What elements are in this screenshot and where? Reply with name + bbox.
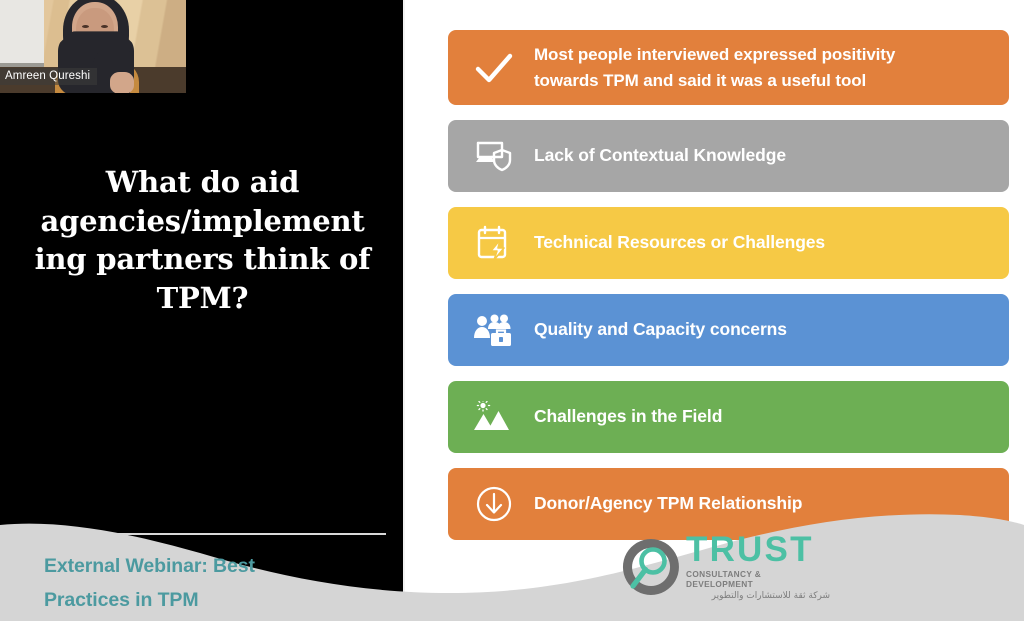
topic-bar-positivity[interactable]: Most people interviewed expressed positi… [448,30,1009,105]
footer-title: External Webinar: Best Practices in TPM [44,549,374,617]
webcam-thumbnail[interactable]: Amreen Qureshi [0,0,186,93]
trust-tagline-arabic: شركة ثقة للاستشارات والتطوير [686,590,830,602]
webcam-person-hand [110,72,134,93]
topic-bar-list: Most people interviewed expressed positi… [448,30,1009,555]
magnifying-glass-icon [620,536,682,598]
slide-heading: What do aid agencies/implement ing partn… [10,163,395,317]
topic-bar-label-line-1: Most people interviewed expressed positi… [534,45,895,64]
topic-bar-label: Lack of Contextual Knowledge [522,143,802,168]
slide-heading-line-2: agencies/implement [10,202,395,241]
slide-stage: Amreen Qureshi What do aid agencies/impl… [0,0,1024,621]
clipboard-bolt-icon [466,220,522,266]
topic-bar-label: Donor/Agency TPM Relationship [522,491,818,516]
topic-bar-label: Challenges in the Field [522,404,738,429]
trust-logo-text: TRUST CONSULTANCY & DEVELOPMENT شركة ثقة… [686,532,830,603]
slide-left-panel: Amreen Qureshi What do aid agencies/impl… [0,0,403,621]
monitor-shield-icon [466,133,522,179]
topic-bar-technical-resources[interactable]: Technical Resources or Challenges [448,207,1009,279]
slide-heading-line-1: What do aid [10,163,395,202]
check-icon [466,45,522,91]
topic-bar-field-challenges[interactable]: Challenges in the Field [448,381,1009,453]
footer-title-line-1: External Webinar: Best [44,549,374,583]
topic-bar-quality-capacity[interactable]: Quality and Capacity concerns [448,294,1009,366]
slide-heading-line-4: TPM? [10,279,395,318]
topic-bar-contextual-knowledge[interactable]: Lack of Contextual Knowledge [448,120,1009,192]
webcam-person-eye-left [82,25,89,28]
topic-bar-label: Quality and Capacity concerns [522,317,803,342]
slide-divider-rule [8,533,386,535]
webcam-person-eye-right [101,25,108,28]
topic-bar-label: Most people interviewed expressed positi… [522,42,911,93]
topic-bar-label: Technical Resources or Challenges [522,230,841,255]
footer-title-line-2: Practices in TPM [44,583,374,617]
slide-heading-line-3: ing partners think of [10,240,395,279]
people-briefcase-icon [466,307,522,353]
webcam-participant-name: Amreen Qureshi [0,68,97,85]
topic-bar-label-line-2: towards TPM and said it was a useful too… [534,71,866,90]
mountains-sun-icon [466,394,522,440]
slide-right-panel: Most people interviewed expressed positi… [405,0,1024,621]
arrow-down-circle-icon [466,481,522,527]
trust-tagline: CONSULTANCY & DEVELOPMENT [686,569,830,591]
trust-wordmark: TRUST [686,532,830,567]
trust-logo: TRUST CONSULTANCY & DEVELOPMENT شركة ثقة… [620,534,830,600]
